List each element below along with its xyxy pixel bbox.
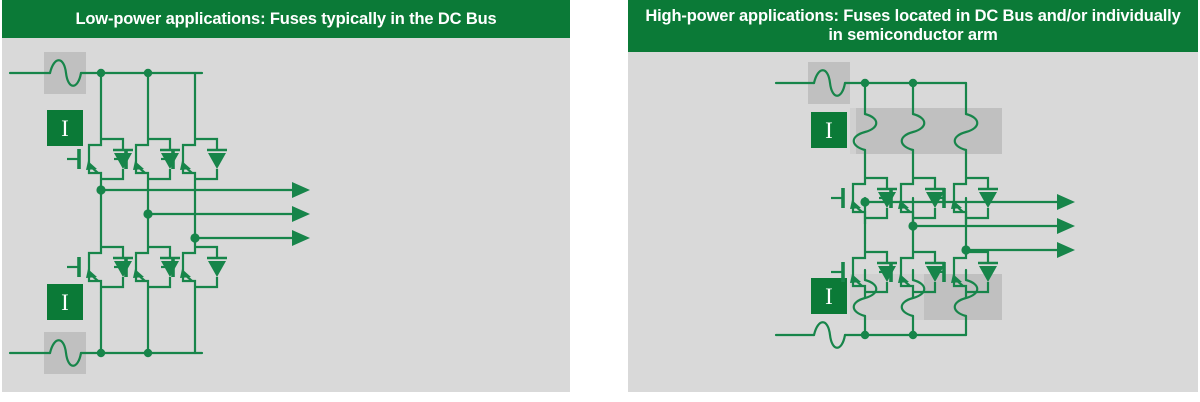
node-phase-a: [96, 185, 105, 194]
phase-a-arrow: [1057, 194, 1075, 210]
phase-a-arrow: [292, 182, 310, 198]
current-marker-label-bottom: I: [61, 290, 69, 315]
node-phase-b: [143, 209, 152, 218]
figure-root: Low-power applications: Fuses typically …: [0, 0, 1200, 402]
node-phase-a: [860, 197, 869, 206]
fuse-symbol-negative-bus: [814, 322, 845, 348]
panel-title-low-power: Low-power applications: Fuses typically …: [2, 0, 570, 38]
node-negative-bus-b: [909, 331, 917, 339]
current-marker-label-top: I: [61, 116, 69, 141]
node-negative-bus-b: [144, 349, 152, 357]
phase-c-arrow: [292, 230, 310, 246]
node-positive-bus-b: [909, 79, 917, 87]
node-negative-bus-a: [861, 331, 869, 339]
phase-c-arrow: [1057, 242, 1075, 258]
schematic-low-power: I I: [2, 38, 570, 392]
node-positive-bus-a: [861, 79, 869, 87]
phase-b-arrow: [1057, 218, 1075, 234]
panel-high-power: High-power applications: Fuses located i…: [628, 0, 1198, 392]
current-marker-label-bottom: I: [825, 284, 833, 309]
node-negative-bus-a: [97, 349, 105, 357]
panel-low-power: Low-power applications: Fuses typically …: [2, 0, 570, 392]
panel-body-high-power: I I: [628, 52, 1198, 392]
arm-fuse-band-upper: [856, 108, 1002, 154]
panel-title-high-power: High-power applications: Fuses located i…: [628, 0, 1198, 52]
current-marker-label-top: I: [825, 118, 833, 143]
node-positive-bus-b: [144, 69, 152, 77]
phase-b-arrow: [292, 206, 310, 222]
node-positive-bus-a: [97, 69, 105, 77]
arm-fuse-band-lower: [924, 274, 1002, 320]
panel-body-low-power: I I: [2, 38, 570, 392]
schematic-high-power: I I: [628, 52, 1198, 392]
